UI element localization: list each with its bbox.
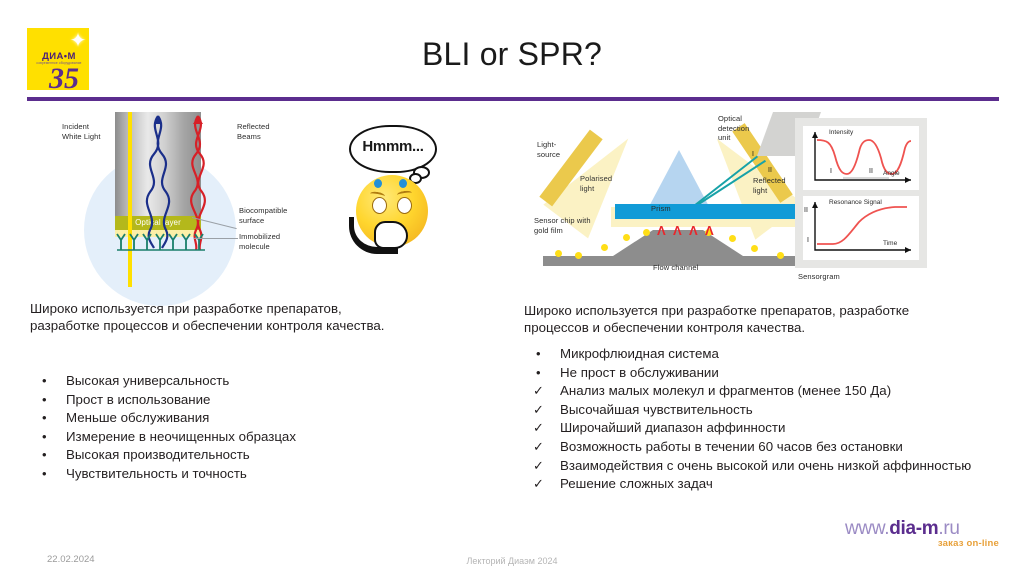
emoji-eye-left	[372, 197, 387, 214]
chart-x-arrow	[905, 247, 911, 253]
chart-y-arrow	[812, 202, 818, 208]
spr-molecule-dot	[575, 252, 582, 259]
spr-molecule-dot	[623, 234, 630, 241]
chart-annotation-II: II	[869, 168, 873, 175]
check-icon: ✓	[533, 401, 544, 420]
header-divider	[27, 97, 999, 101]
list-item: ✓Анализ малых молекул и фрагментов (мене…	[524, 382, 994, 401]
list-item-label: Чувствительность и точность	[66, 466, 247, 481]
list-item: •Чувствительность и точность	[30, 465, 410, 484]
spr-sensor-chip	[615, 204, 799, 219]
check-icon: ✓	[533, 457, 544, 476]
spr-optical-unit-line1: Optical	[718, 114, 742, 123]
list-item-label: Анализ малых молекул и фрагментов (менее…	[560, 383, 891, 398]
brand-logo[interactable]: www.dia-m.ru заказ on-line	[845, 518, 1005, 549]
list-item: •Высокая универсальность	[30, 372, 410, 391]
bli-incident-line2: White Light	[62, 132, 101, 141]
bli-reflected-line1: Reflected	[237, 122, 270, 131]
bli-incident-label: Incident White Light	[62, 122, 101, 142]
list-item: ✓Решение сложных задач	[524, 475, 994, 494]
bli-reflected-line2: Beams	[237, 132, 261, 141]
bullet-icon: •	[42, 391, 47, 410]
spr-molecule-dot	[777, 252, 784, 259]
spr-polarised-line1: Polarised	[580, 174, 612, 183]
emoji-hand	[374, 221, 408, 249]
spr-prism-label: Prism	[651, 204, 671, 214]
spr-optical-unit-line3: unit	[718, 133, 731, 142]
bli-immobilized-label: Immobilized molecule	[239, 232, 280, 252]
footer-center-text: Лекторий Диаэм 2024	[0, 556, 1024, 566]
bli-red-wave-2	[196, 116, 205, 250]
chart-ytick-I: I	[807, 237, 809, 244]
thought-bubble-text: Hmmm...	[351, 138, 435, 155]
list-item: ✓Возможность работы в течении 60 часов б…	[524, 438, 994, 457]
bli-antibody-group	[117, 234, 205, 250]
list-item-label: Высокая производительность	[66, 447, 250, 462]
bullet-icon: •	[536, 364, 541, 383]
intensity-angle-plot: I II	[803, 126, 919, 190]
brand-tld: ru	[943, 518, 959, 539]
bullet-icon: •	[42, 372, 47, 391]
page-title: BLI or SPR?	[0, 36, 1024, 73]
spr-antibody-icon: Λ	[673, 224, 682, 237]
list-item-label: Возможность работы в течении 60 часов бе…	[560, 439, 903, 454]
resonance-curve	[817, 207, 907, 244]
spr-polarised-line2: light	[580, 184, 594, 193]
spr-molecule-dot	[643, 229, 650, 236]
emoji-pupil-left	[374, 179, 382, 188]
emoji-eye-right	[397, 197, 412, 214]
spr-polarised-label: Polarised light	[580, 174, 612, 193]
spr-antibody-icon: Λ	[657, 224, 666, 237]
spr-sensor-chip-line1: Sensor chip with	[534, 216, 591, 225]
bli-reflected-label: Reflected Beams	[237, 122, 270, 142]
bullet-icon: •	[42, 428, 47, 447]
chart-xlabel-time: Time	[883, 240, 897, 247]
bli-red-arrow	[193, 116, 203, 124]
list-item: •Меньше обслуживания	[30, 409, 410, 428]
list-item-label: Меньше обслуживания	[66, 410, 209, 425]
bullet-icon: •	[42, 465, 47, 484]
spr-flow-channel-label: Flow channel	[653, 263, 698, 273]
bli-blue-wave	[147, 116, 158, 248]
spr-reflected-line1: Reflected	[753, 176, 786, 185]
brand-name: dia-m	[889, 518, 938, 539]
right-bullet-list: •Микрофлюидная система•Не прост в обслуж…	[524, 345, 994, 494]
brand-url: www.dia-m.ru	[845, 518, 1005, 540]
check-icon: ✓	[533, 419, 544, 438]
chart-xlabel-angle: Angle	[883, 170, 900, 177]
spr-molecule-dot	[601, 244, 608, 251]
list-item-label: Взаимодействия с очень высокой или очень…	[560, 458, 971, 473]
list-item-label: Измерение в неочищенных образцах	[66, 429, 296, 444]
spr-reflected-light-label: Reflected light	[753, 176, 786, 195]
left-paragraph: Широко используется при разработке препа…	[30, 300, 402, 334]
list-item: ✓Взаимодействия с очень высокой или очен…	[524, 457, 994, 476]
spr-antibody-icon: Λ	[705, 224, 714, 237]
sensorgram-panel: I II Intensity Angle II I Resonance Sign…	[795, 118, 927, 268]
chart-ytick-II: II	[804, 207, 808, 214]
right-paragraph: Широко используется при разработке препа…	[524, 302, 976, 336]
bli-wave-overlay	[62, 112, 352, 287]
left-bullet-list: •Высокая универсальность•Прост в использ…	[30, 372, 410, 484]
bli-leader-line-2	[194, 238, 238, 239]
chart-ylabel-resonance-text: Resonance Signal	[829, 199, 882, 206]
spr-sensor-chip-line2: gold film	[534, 226, 563, 235]
spr-light-source-label: Light- source	[537, 140, 560, 159]
spr-reflected-line2: light	[753, 186, 767, 195]
bli-immobilized-line1: Immobilized	[239, 232, 280, 241]
spr-diagram: Λ Λ Λ Λ Light- source Polarised light Pr…	[533, 112, 933, 292]
spr-sensor-chip-label: Sensor chip with gold film	[534, 216, 591, 235]
spr-molecule-dot	[729, 235, 736, 242]
intensity-angle-chart: I II Intensity Angle	[803, 126, 919, 190]
list-item-label: Широчайший диапазон аффинности	[560, 420, 785, 435]
list-item: •Прост в использование	[30, 391, 410, 410]
list-item-label: Прост в использование	[66, 392, 210, 407]
chart-annotation-I: I	[830, 168, 832, 175]
thinking-face-icon: Hmmm...	[337, 125, 447, 275]
list-item: •Не прост в обслуживании	[524, 364, 994, 383]
check-icon: ✓	[533, 438, 544, 457]
brand-www: www.	[845, 518, 889, 539]
spr-light-source-line2: source	[537, 150, 560, 159]
list-item: •Микрофлюидная система	[524, 345, 994, 364]
bli-incident-line1: Incident	[62, 122, 89, 131]
bli-immobilized-line2: molecule	[239, 242, 270, 251]
spr-molecule-dot	[751, 245, 758, 252]
resonance-time-chart: II I Resonance Signal Time	[803, 196, 919, 260]
bullet-icon: •	[42, 409, 47, 428]
spr-ray-label-2: II	[768, 167, 772, 174]
list-item-label: Высокая универсальность	[66, 373, 229, 388]
spr-ray-label-1: I	[752, 151, 754, 158]
chart-ylabel-intensity: Intensity	[829, 129, 853, 136]
bli-biocompatible-line1: Biocompatible	[239, 206, 287, 215]
emoji-pupil-right	[399, 179, 407, 188]
bullet-icon: •	[536, 345, 541, 364]
sensorgram-caption: Sensorgram	[798, 272, 840, 282]
list-item-label: Не прост в обслуживании	[560, 365, 719, 380]
chart-x-arrow	[905, 177, 911, 183]
bli-biocompatible-label: Biocompatible surface	[239, 206, 287, 226]
list-item-label: Решение сложных задач	[560, 476, 713, 491]
bli-blue-wave-2	[158, 116, 169, 248]
list-item: ✓Высочайшая чувствительность	[524, 401, 994, 420]
bli-biocompatible-line2: surface	[239, 216, 264, 225]
chart-ylabel-resonance: Resonance Signal	[829, 199, 882, 207]
list-item: •Высокая производительность	[30, 446, 410, 465]
spr-optical-unit-line2: detection	[718, 124, 749, 133]
list-item-label: Микрофлюидная система	[560, 346, 719, 361]
list-item-label: Высочайшая чувствительность	[560, 402, 753, 417]
spr-molecule-dot	[555, 250, 562, 257]
spr-antibody-icon: Λ	[689, 224, 698, 237]
spr-light-source-line1: Light-	[537, 140, 556, 149]
bullet-icon: •	[42, 446, 47, 465]
list-item: ✓Широчайший диапазон аффинности	[524, 419, 994, 438]
spr-optical-unit-label: Optical detection unit	[718, 114, 749, 143]
bli-diagram: Optical layer Incident White Ligh	[62, 112, 352, 287]
list-item: •Измерение в неочищенных образцах	[30, 428, 410, 447]
check-icon: ✓	[533, 475, 544, 494]
slide-canvas: ✦ ДИА•М современное оборудование 35 BLI …	[0, 0, 1024, 573]
chart-y-arrow	[812, 132, 818, 138]
check-icon: ✓	[533, 382, 544, 401]
